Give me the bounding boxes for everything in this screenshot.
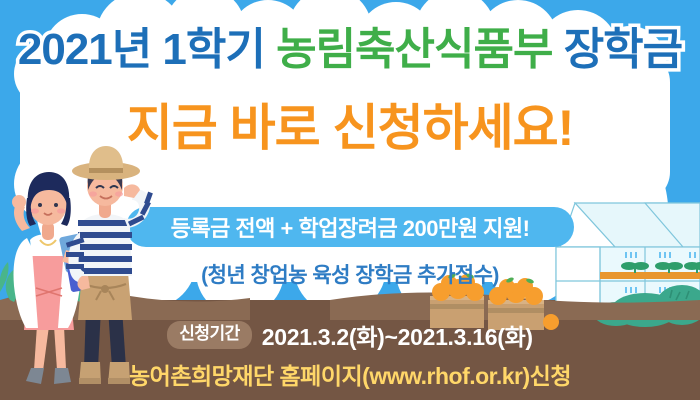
headline-secondary: 지금 바로 신청하세요! xyxy=(0,103,700,153)
headline-segment-ministry: 농림축산식품부 xyxy=(276,25,552,74)
headline-primary: 2021년 1학기 농림축산식품부 장학금 xyxy=(0,28,700,72)
period-badge: 신청기간 xyxy=(167,321,252,349)
scholarship-promo-banner: 2021년 1학기 농림축산식품부 장학금 지금 바로 신청하세요! xyxy=(0,0,700,400)
headline-segment-term: 2021년 1학기 xyxy=(18,25,276,74)
headline-segment-scholarship: 장학금 xyxy=(552,25,682,74)
benefit-pill: 등록금 전액 + 학업장려금 200만원 지원! xyxy=(126,207,574,247)
footer-apply-info: 농어촌희망재단 홈페이지(www.rhof.or.kr)신청 xyxy=(0,357,700,391)
period-date-text: 2021.3.2(화)~2021.3.16(화) xyxy=(262,318,533,352)
subline-note: (청년 창업농 육성 장학금 추가접수) xyxy=(0,259,700,289)
application-period-row: 신청기간 2021.3.2(화)~2021.3.16(화) xyxy=(0,318,700,352)
